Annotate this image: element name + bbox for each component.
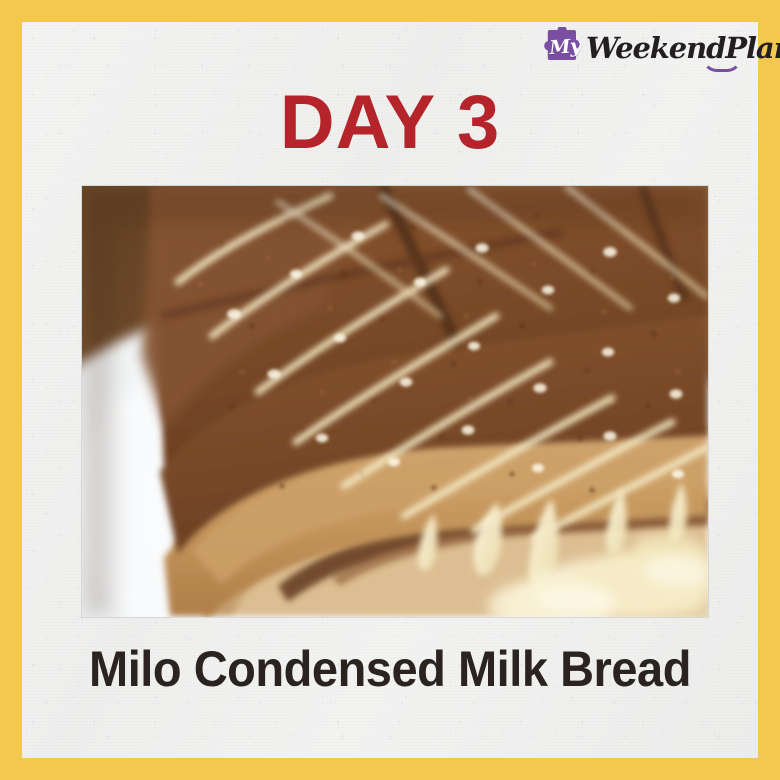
smile-swoosh-icon — [702, 57, 742, 72]
day-heading: DAY 3 — [0, 83, 780, 163]
brand-name: WeekendPlan — [586, 31, 780, 65]
puzzle-piece-icon: My — [540, 27, 584, 69]
puzzle-word: My — [546, 35, 583, 59]
recipe-title: Milo Condensed Milk Bread — [23, 638, 756, 700]
poster-card: My WeekendPlan ™ DAY 3 — [0, 0, 780, 780]
recipe-photo — [82, 186, 708, 617]
brand-name-wrap: WeekendPlan ™ — [586, 31, 780, 65]
brand-logo[interactable]: My WeekendPlan ™ — [540, 24, 758, 72]
